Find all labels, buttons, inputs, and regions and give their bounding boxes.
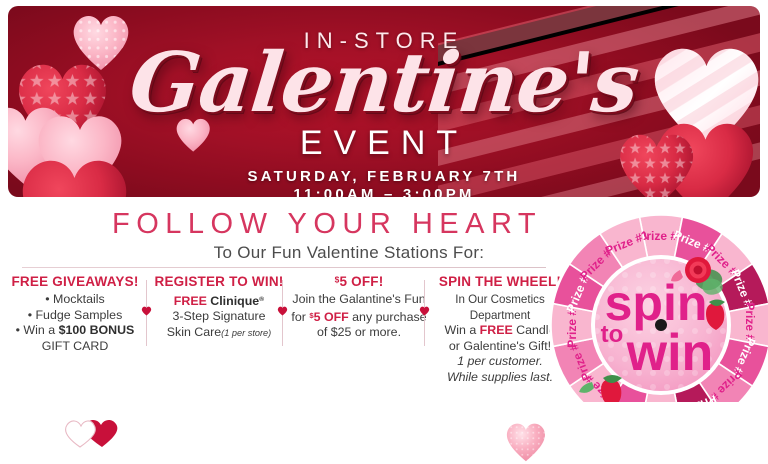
text-fragment: Skin Care xyxy=(167,325,221,339)
station-line: Join the Galantine's Fun xyxy=(288,292,430,308)
station-line: of $25 or more. xyxy=(288,325,430,341)
free-label: FREE xyxy=(174,294,207,308)
station-five-dollars-off: $5 OFF! Join the Galantine's Fun for $5 … xyxy=(288,274,430,341)
free-label: FREE xyxy=(480,323,513,337)
bonus-amount: $100 BONUS xyxy=(59,323,135,337)
divider-line xyxy=(22,267,546,268)
brand-name: Clinique xyxy=(207,294,259,308)
station-line: • Fudge Samples xyxy=(0,308,150,324)
discount-amount: 5 OFF xyxy=(314,310,349,324)
stations-columns: FREE GIVEAWAYS! • Mocktails • Fudge Samp… xyxy=(0,274,572,394)
prize-wheel[interactable]: Prize #1Prize #2Prize #1Prize #4Prize #1… xyxy=(548,212,768,402)
page-title: FOLLOW YOUR HEART xyxy=(112,208,542,241)
station-heading: FREE GIVEAWAYS! xyxy=(0,274,150,289)
double-heart-icon xyxy=(62,416,120,450)
station-heading: $5 OFF! xyxy=(288,274,430,289)
station-line: 3-Step Signature xyxy=(152,309,286,325)
text-fragment: • Win a xyxy=(16,323,59,337)
station-line: • Win a $100 BONUS xyxy=(0,323,150,339)
registered-mark: ® xyxy=(259,296,264,303)
station-line: FREE Clinique® xyxy=(152,292,286,309)
column-divider xyxy=(282,280,283,346)
pink-polka-heart-icon xyxy=(500,418,550,464)
per-store-note: (1 per store) xyxy=(221,328,271,338)
text-fragment: any purchase xyxy=(349,310,427,324)
small-pink-heart-icon xyxy=(171,114,213,154)
station-free-giveaways: FREE GIVEAWAYS! • Mocktails • Fudge Samp… xyxy=(0,274,150,354)
heading-text: 5 OFF! xyxy=(339,274,383,289)
text-fragment: for xyxy=(291,310,309,324)
station-line: for $5 OFF any purchase xyxy=(288,308,430,326)
prize-wheel-graphic[interactable]: Prize #1Prize #2Prize #1Prize #4Prize #1… xyxy=(548,212,768,402)
column-divider xyxy=(146,280,147,346)
wheel-center-to: to xyxy=(601,321,624,348)
small-heart-icon xyxy=(141,306,152,316)
banner-date: SATURDAY, FEBRUARY 7TH xyxy=(8,168,760,185)
banner-script-title: Galentine's xyxy=(8,42,760,124)
station-heading: REGISTER TO WIN! xyxy=(152,274,286,289)
small-heart-icon xyxy=(277,306,288,316)
wheel-center-pin xyxy=(655,319,667,331)
station-register-to-win: REGISTER TO WIN! FREE Clinique® 3-Step S… xyxy=(152,274,286,341)
column-divider xyxy=(424,280,425,346)
wheel-center-win: win xyxy=(626,324,714,382)
text-fragment: Win a xyxy=(445,323,480,337)
event-banner: IN-STORE Galentine's EVENT SATURDAY, FEB… xyxy=(8,6,760,197)
station-line: • Mocktails xyxy=(0,292,150,308)
station-line: GIFT CARD xyxy=(0,339,150,355)
station-line: Skin Care(1 per store) xyxy=(152,325,286,342)
banner-time: 11:00AM – 3:00PM xyxy=(8,186,760,197)
